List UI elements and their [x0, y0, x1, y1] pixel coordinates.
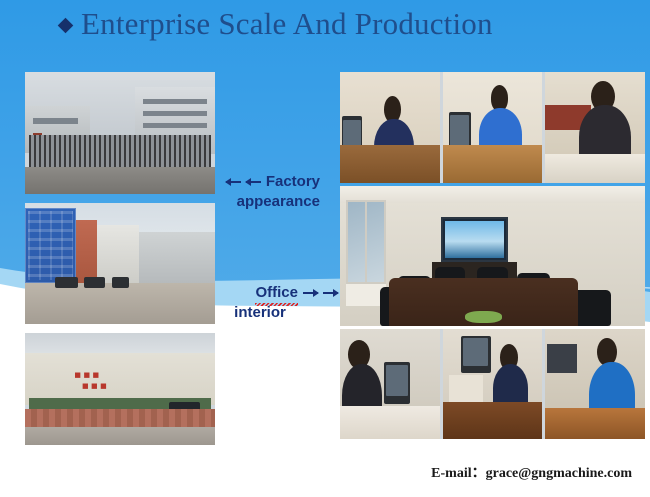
office-photo-pane	[545, 329, 645, 439]
factory-wall-photo: ■ ■ ■ ■ ■ ■	[25, 333, 215, 445]
callout-office-interior: Office interior	[212, 283, 338, 323]
callout-office-line1: Office	[255, 283, 298, 303]
office-photo-pane	[545, 72, 645, 183]
slide-root: Enterprise Scale And Production	[0, 0, 650, 497]
arrow-left-icon	[246, 181, 261, 183]
factory-gate-photo	[25, 72, 215, 194]
callout-factory-line1: Factory	[266, 172, 320, 192]
page-title: Enterprise Scale And Production	[81, 6, 493, 42]
arrow-right-icon	[303, 292, 318, 294]
meeting-room-tv	[441, 217, 508, 262]
callout-factory-line2: appearance	[237, 192, 320, 212]
diamond-bullet-icon	[58, 17, 74, 33]
office-workers-row-photo	[340, 329, 645, 439]
office-photo-pane	[443, 329, 543, 439]
office-photo-pane	[340, 72, 440, 183]
office-staff-row-photo	[340, 72, 645, 183]
office-photo-pane	[340, 329, 440, 439]
contact-email: E-mail：grace@gngmachine.com	[0, 462, 632, 482]
arrow-right-icon	[323, 292, 338, 294]
factory-building-photo	[25, 203, 215, 324]
callout-factory-appearance: Factory appearance	[196, 172, 320, 212]
callout-office-line2: interior	[234, 303, 286, 323]
arrow-left-icon	[226, 181, 241, 183]
meeting-room-photo	[340, 186, 645, 326]
office-photo-pane	[443, 72, 543, 183]
slide-title: Enterprise Scale And Production	[60, 6, 493, 42]
